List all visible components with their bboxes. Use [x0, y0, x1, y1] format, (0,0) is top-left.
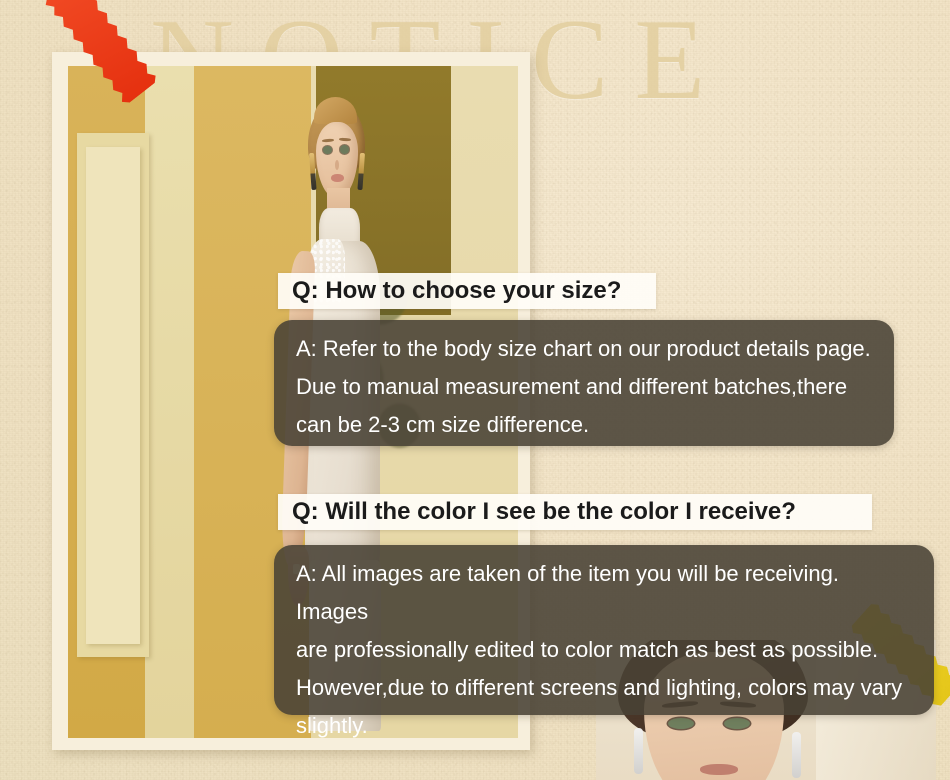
- faq-answer-1-line-3: can be 2-3 cm size difference.: [296, 406, 872, 444]
- photo-paper-sheet-front: [86, 147, 140, 644]
- faq-answer-1-line-1: A: Refer to the body size chart on our p…: [296, 330, 872, 368]
- model-hair-top: [314, 97, 357, 125]
- faq-answer-2-line-3: However,due to different screens and lig…: [296, 669, 912, 707]
- faq-answer-2-line-2: are professionally edited to color match…: [296, 631, 912, 669]
- secondary-model-lips: [700, 764, 738, 775]
- notice-page: NOTICE: [0, 0, 950, 780]
- model-nose: [335, 160, 339, 171]
- faq-answer-1-line-2: Due to manual measurement and different …: [296, 368, 872, 406]
- faq-answer-2: A: All images are taken of the item you …: [274, 545, 934, 715]
- faq-answer-1: A: Refer to the body size chart on our p…: [274, 320, 894, 446]
- model-eye-right: [340, 145, 349, 153]
- faq-question-1: Q: How to choose your size?: [278, 273, 656, 309]
- faq-question-2: Q: Will the color I see be the color I r…: [278, 494, 872, 530]
- faq-answer-2-line-4: slightly.: [296, 707, 912, 745]
- photo-backdrop-band-2: [145, 66, 195, 738]
- model-earring-right: [358, 153, 365, 190]
- faq-answer-2-line-1: A: All images are taken of the item you …: [296, 555, 912, 631]
- model-lips: [331, 174, 344, 183]
